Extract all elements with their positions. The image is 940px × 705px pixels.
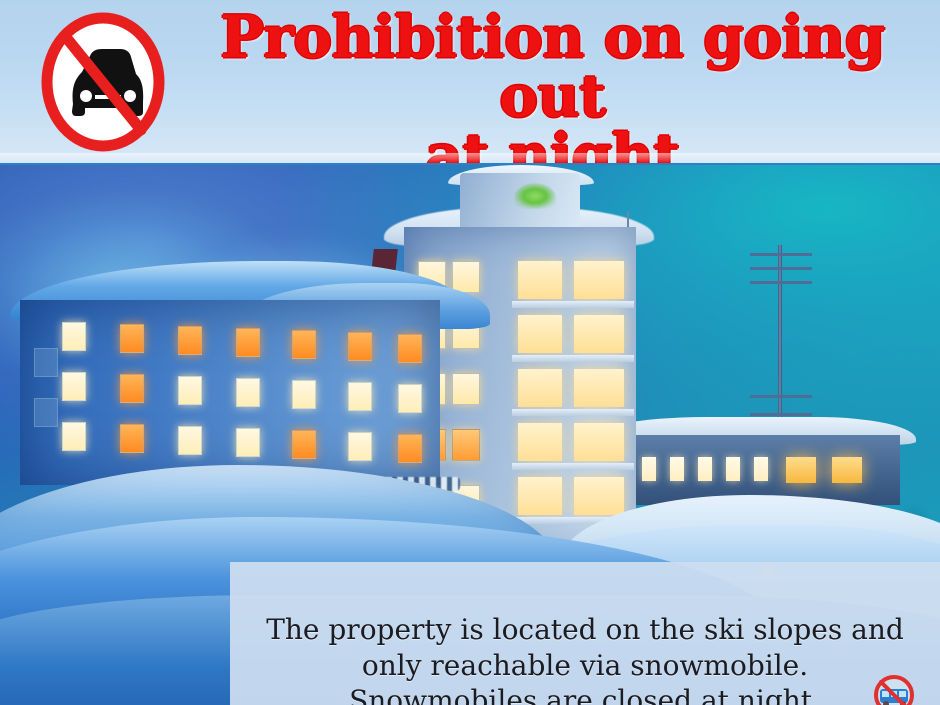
rooftop-logo-icon xyxy=(514,183,556,209)
caption-panel: The property is located on the ski slope… xyxy=(230,562,940,705)
tower-balconies xyxy=(512,257,634,557)
caption-text: The property is located on the ski slope… xyxy=(266,613,904,705)
page-title: Prohibition on going out at night xyxy=(175,8,930,165)
wing-window-rows xyxy=(20,300,440,485)
header-banner: Prohibition on going out at night xyxy=(0,0,940,165)
hotel-wing xyxy=(20,300,440,485)
no-vehicle-badge-icon xyxy=(870,635,918,683)
notice-slide: Prohibition on going out at night xyxy=(0,0,940,705)
no-car-icon xyxy=(38,12,168,152)
